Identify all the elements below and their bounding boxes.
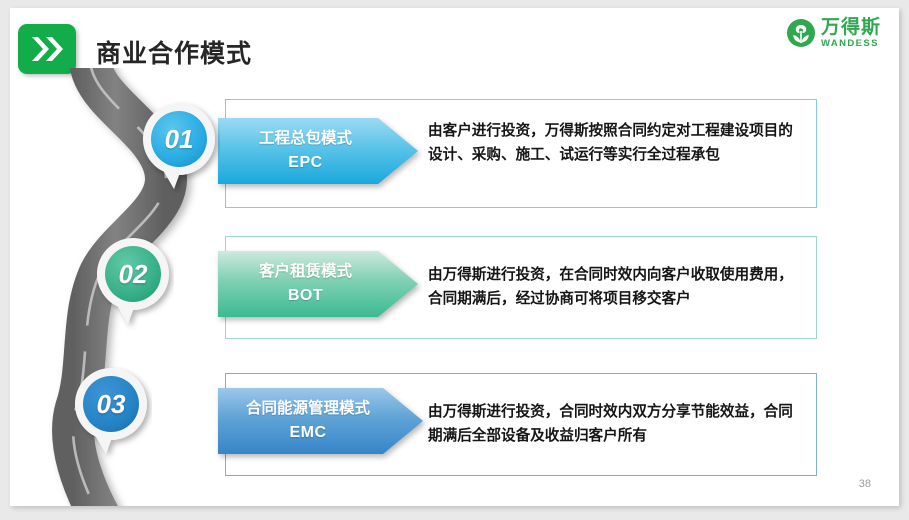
mode-banner-label-2: 客户租赁模式 BOT <box>218 251 393 317</box>
logo-text-en: WANDESS <box>821 39 881 49</box>
mode-description-2: 由万得斯进行投资，在合同时效内向客户收取使用费用，合同期满后，经过协商可将项目移… <box>428 263 802 310</box>
mode-description-3: 由万得斯进行投资，合同时效内双方分享节能效益，合同期满后全部设备及收益归客户所有 <box>428 400 802 447</box>
page-title: 商业合作模式 <box>96 34 252 70</box>
logo-text-cn: 万得斯 <box>821 18 881 37</box>
mode-sub-3: EMC <box>289 421 326 444</box>
mode-banner-label-3: 合同能源管理模式 EMC <box>218 388 398 454</box>
double-chevron-right-icon <box>18 24 76 74</box>
mode-banner-label-1: 工程总包模式 EPC <box>218 118 393 184</box>
step-badge-3[interactable] <box>70 366 152 460</box>
mode-title-2: 客户租赁模式 <box>259 261 352 283</box>
mode-description-1: 由客户进行投资，万得斯按照合同约定对工程建设项目的设计、采购、施工、试运行等实行… <box>428 119 802 166</box>
sprout-leaf-icon <box>786 18 816 48</box>
page-number: 38 <box>859 478 871 490</box>
mode-title-1: 工程总包模式 <box>259 128 352 150</box>
mode-title-3: 合同能源管理模式 <box>246 398 370 420</box>
slide-canvas: 商业合作模式 万得斯 WANDESS <box>10 8 899 506</box>
mode-sub-2: BOT <box>288 284 323 307</box>
step-badge-2[interactable] <box>92 236 174 330</box>
mode-sub-1: EPC <box>288 151 322 174</box>
step-badge-1[interactable] <box>138 101 220 195</box>
brand-logo: 万得斯 WANDESS <box>786 18 881 49</box>
